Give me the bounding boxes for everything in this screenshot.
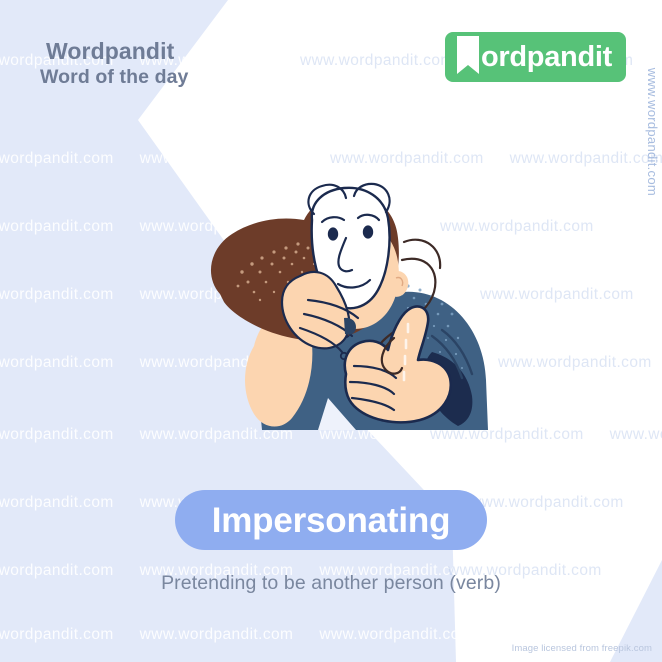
word-pill: Impersonating	[175, 490, 487, 550]
header-subtitle: Word of the day	[40, 66, 188, 89]
image-credit: Image licensed from freepik.com	[512, 643, 652, 654]
wordpandit-logo[interactable]: ordpandit	[445, 32, 626, 82]
illustration-person-with-mask	[196, 168, 496, 430]
word-term: Impersonating	[212, 503, 451, 538]
logo-text: ordpandit	[481, 43, 612, 72]
word-definition: Pretending to be another person (verb)	[0, 572, 662, 595]
word-of-the-day-card: www.wordpandit.com www.wordpandit.com ww…	[0, 0, 662, 662]
brand-title: Wordpandit	[46, 38, 188, 64]
bookmark-w-icon	[453, 32, 483, 82]
header: Wordpandit Word of the day	[46, 38, 188, 89]
